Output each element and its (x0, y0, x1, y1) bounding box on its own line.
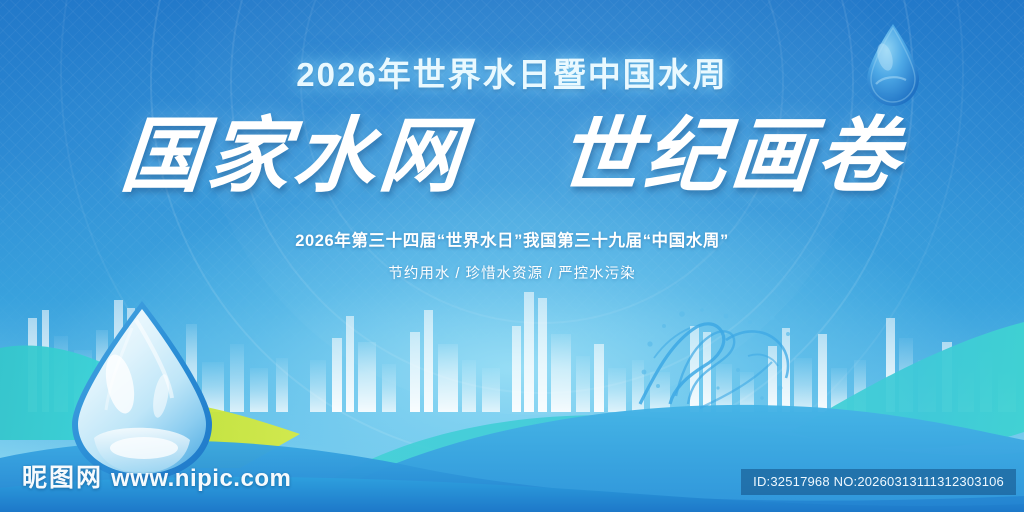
watermark-site-url: www.nipic.com (111, 465, 291, 493)
image-id-badge: ID:32517968 NO:20260313111312303106 (741, 469, 1016, 495)
page-title-top: 2026年世界水日暨中国水周 (0, 58, 1024, 91)
large-water-drop-icon (62, 298, 222, 483)
watermark: 昵图网 www.nipic.com (22, 458, 291, 494)
poster-text-block: 2026年世界水日暨中国水周 国家水网 世纪画卷 2026年第三十四届“世界水日… (0, 58, 1024, 283)
water-splash-icon (630, 300, 800, 415)
page-title-main-left: 国家水网 (117, 108, 469, 204)
watermark-site-name: 昵图网 (22, 458, 103, 494)
page-title-main-right: 世纪画卷 (554, 108, 906, 204)
subtitle-line-2: 节约用水 / 珍惜水资源 / 严控水污染 (0, 262, 1024, 283)
subtitle-line-1: 2026年第三十四届“世界水日”我国第三十九届“中国水周” (0, 227, 1024, 251)
poster-canvas: 2026年世界水日暨中国水周 国家水网 世纪画卷 2026年第三十四届“世界水日… (0, 0, 1024, 512)
page-title-main: 国家水网 世纪画卷 (0, 115, 1024, 199)
